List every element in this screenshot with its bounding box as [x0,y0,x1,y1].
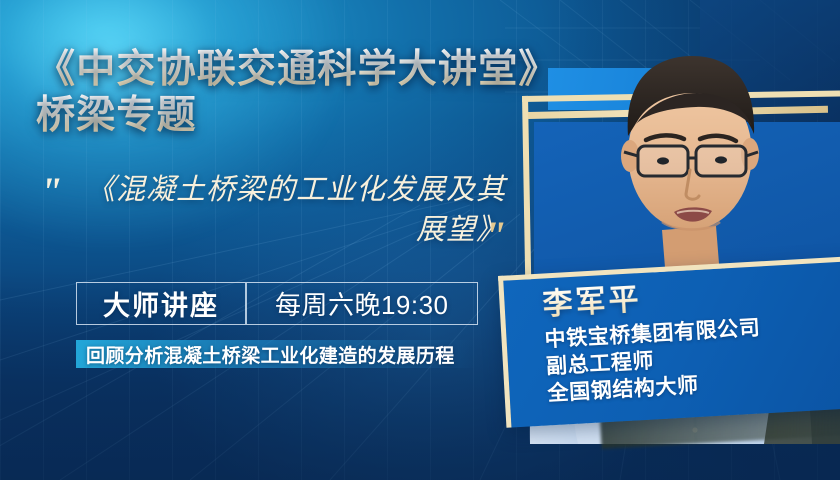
lecture-series-label: 大师讲座 [77,283,245,324]
quote-open-mark: " [40,172,62,212]
speaker-info-panel: 李军平 中铁宝桥集团有限公司 副总工程师 全国钢结构大师 [498,256,840,427]
lecture-description-bar: 回顾分析混凝土桥梁工业化建造的发展历程 [76,340,476,368]
quote-close-mark: " [484,216,506,256]
lecture-topic-quote: " 《混凝土桥梁的工业化发展及其展望》 " [38,168,538,268]
title-line-2: 桥梁专题 [36,93,576,139]
promo-poster: 《中交协联交通科学大讲堂》 桥梁专题 " 《混凝土桥梁的工业化发展及其展望》 "… [0,0,840,480]
lecture-info-box: 大师讲座 每周六晚19:30 [76,282,478,325]
poster-title: 《中交协联交通科学大讲堂》 桥梁专题 [36,47,576,139]
lecture-schedule: 每周六晚19:30 [247,283,478,324]
title-line-1: 《中交协联交通科学大讲堂》 [36,47,576,93]
lecture-description-text: 回顾分析混凝土桥梁工业化建造的发展历程 [76,341,455,368]
lecture-topic-text: 《混凝土桥梁的工业化发展及其展望》 [86,170,506,250]
